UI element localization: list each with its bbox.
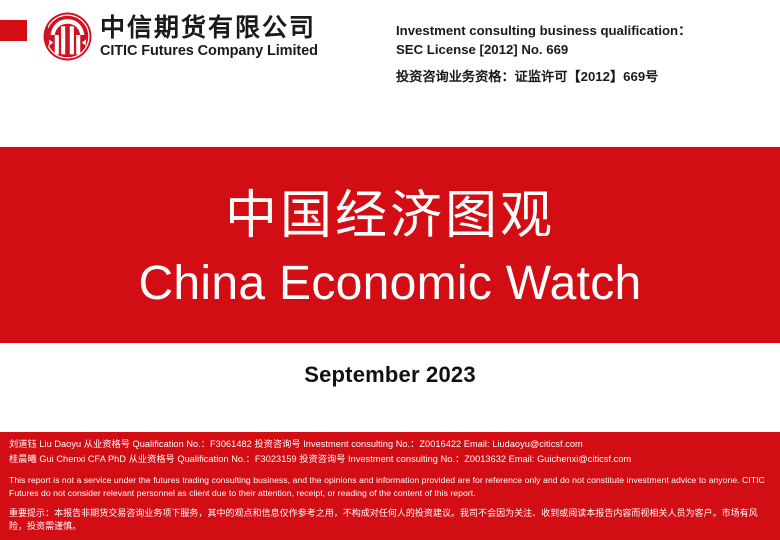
date-area: September 2023 [0,343,780,432]
author-line: 桂晨曦 Gui Chenxi CFA PhD 从业资格号 Qualificati… [9,453,771,467]
disclaimer-en: This report is not a service under the f… [9,474,771,500]
qualification-block: Investment consulting business qualifica… [396,22,766,87]
page-footer: 刘道钰 Liu Daoyu 从业资格号 Qualification No.：F3… [0,432,780,540]
author-line: 刘道钰 Liu Daoyu 从业资格号 Qualification No.：F3… [9,438,771,452]
qualification-cn: 投资咨询业务资格：证监许可【2012】669号 [396,68,766,86]
report-date: September 2023 [304,362,476,388]
corner-accent-block [0,20,27,41]
company-name-cn: 中信期货有限公司 [100,15,318,42]
qualification-en-line1: Investment consulting business qualifica… [396,22,766,41]
company-name-en: CITIC Futures Company Limited [100,43,318,60]
page-header: 中信期货有限公司 CITIC Futures Company Limited I… [0,0,780,147]
brand-names: 中信期货有限公司 CITIC Futures Company Limited [100,15,318,60]
brand-lockup: 中信期货有限公司 CITIC Futures Company Limited [42,11,318,62]
disclaimer-cn: 重要提示：本报告非期货交易咨询业务项下服务，其中的观点和信息仅作参考之用，不构成… [9,507,771,534]
report-title-cn: 中国经济图观 [225,188,555,245]
title-banner: 中国经济图观 China Economic Watch [0,147,780,343]
report-cover-page: 中信期货有限公司 CITIC Futures Company Limited I… [0,0,780,540]
citic-circular-logo-icon [42,11,93,62]
qualification-en-line2: SEC License [2012] No. 669 [396,41,766,60]
report-title-en: China Economic Watch [138,257,641,311]
